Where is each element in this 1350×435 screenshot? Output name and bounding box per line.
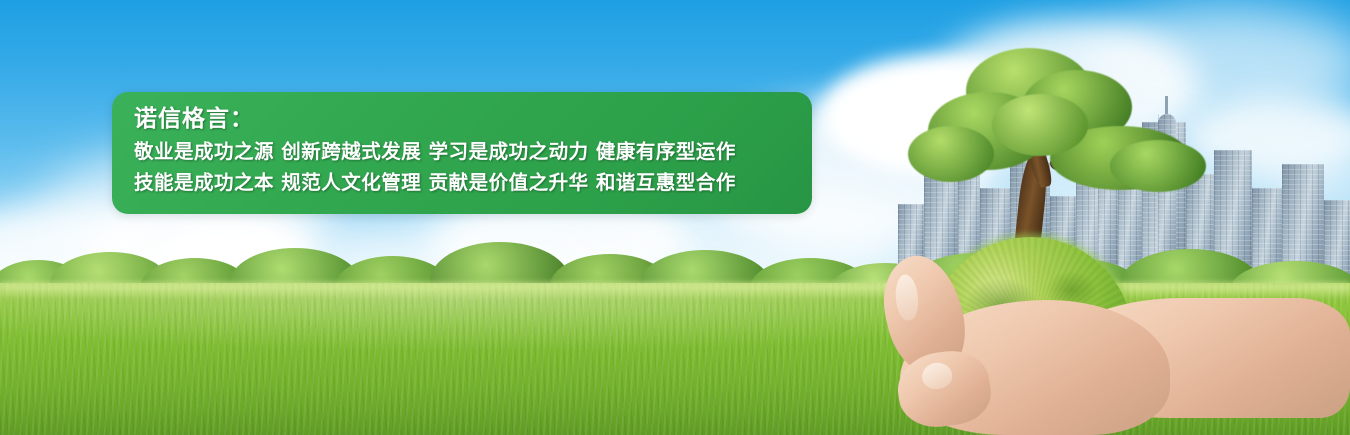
tree-canopy [908, 126, 994, 182]
fingernail [894, 274, 920, 322]
eco-banner: 诺信格言： 敬业是成功之源 创新跨越式发展 学习是成功之动力 健康有序型运作 技… [0, 0, 1350, 435]
fingernail [920, 361, 953, 391]
panel-line-1: 敬业是成功之源 创新跨越式发展 学习是成功之动力 健康有序型运作 [134, 136, 812, 168]
panel-line-2: 技能是成功之本 规范人文化管理 贡献是价值之升华 和谐互惠型合作 [134, 167, 812, 199]
panel-title: 诺信格言： [134, 104, 812, 136]
tree-canopy [1110, 140, 1206, 192]
grass-horizon-glow [0, 283, 1350, 299]
quote-panel: 诺信格言： 敬业是成功之源 创新跨越式发展 学习是成功之动力 健康有序型运作 技… [112, 92, 812, 214]
tree-canopy [992, 94, 1088, 156]
